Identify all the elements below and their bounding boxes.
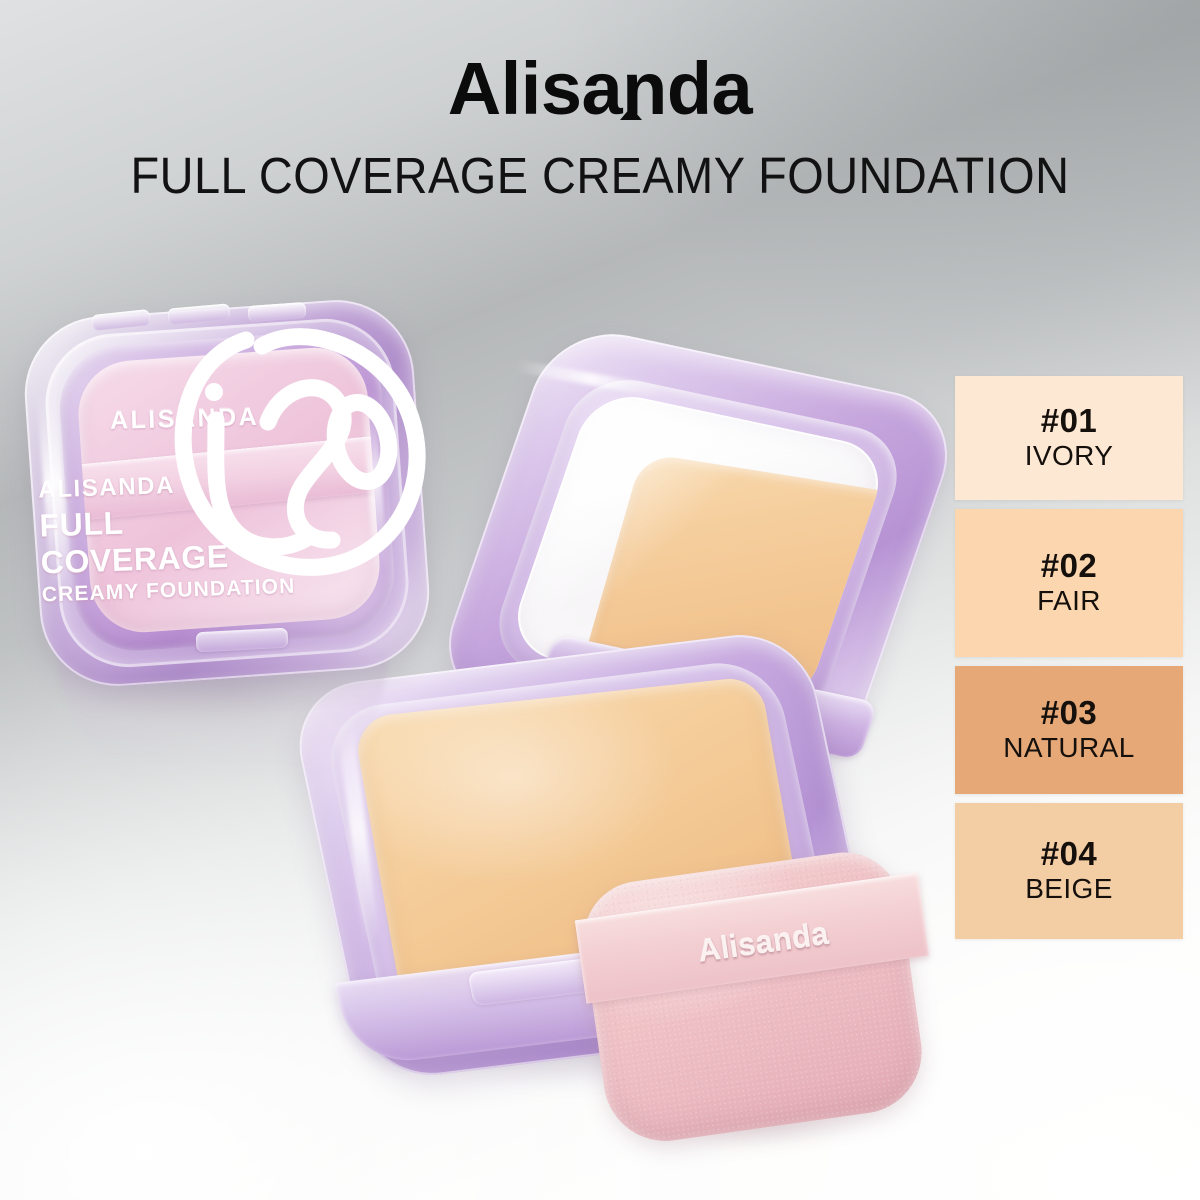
shade-name: NATURAL	[1003, 731, 1134, 764]
shade-swatch[interactable]: #02 FAIR	[955, 509, 1183, 657]
shade-swatch[interactable]: #03 NATURAL	[955, 666, 1183, 794]
header: Alisanda FULL COVERAGE CREAMY FOUNDATION	[0, 0, 1200, 201]
powder-puff: Alisanda	[585, 860, 945, 1160]
brand-title-text: Alisanda	[448, 47, 752, 130]
brand-caret-icon	[620, 107, 642, 120]
shade-name: FAIR	[1037, 584, 1101, 617]
shade-code: #03	[1041, 696, 1098, 731]
shade-swatch-list: #01 IVORY #02 FAIR #03 NATURAL #04 BEIGE	[955, 376, 1183, 948]
alisanda-swirl-logo-icon	[150, 300, 450, 610]
shade-code: #01	[1041, 404, 1098, 439]
shade-swatch[interactable]: #01 IVORY	[955, 376, 1183, 500]
product-image-stage: Alisanda FULL COVERAGE CREAMY FOUNDATION…	[0, 0, 1200, 1200]
shade-code: #04	[1041, 837, 1098, 872]
shade-code: #02	[1041, 549, 1098, 584]
shade-swatch[interactable]: #04 BEIGE	[955, 803, 1183, 939]
shade-name: IVORY	[1025, 439, 1114, 472]
product-subtitle: FULL COVERAGE CREAMY FOUNDATION	[48, 150, 1152, 201]
brand-title: Alisanda	[448, 52, 752, 126]
shade-name: BEIGE	[1025, 872, 1113, 905]
